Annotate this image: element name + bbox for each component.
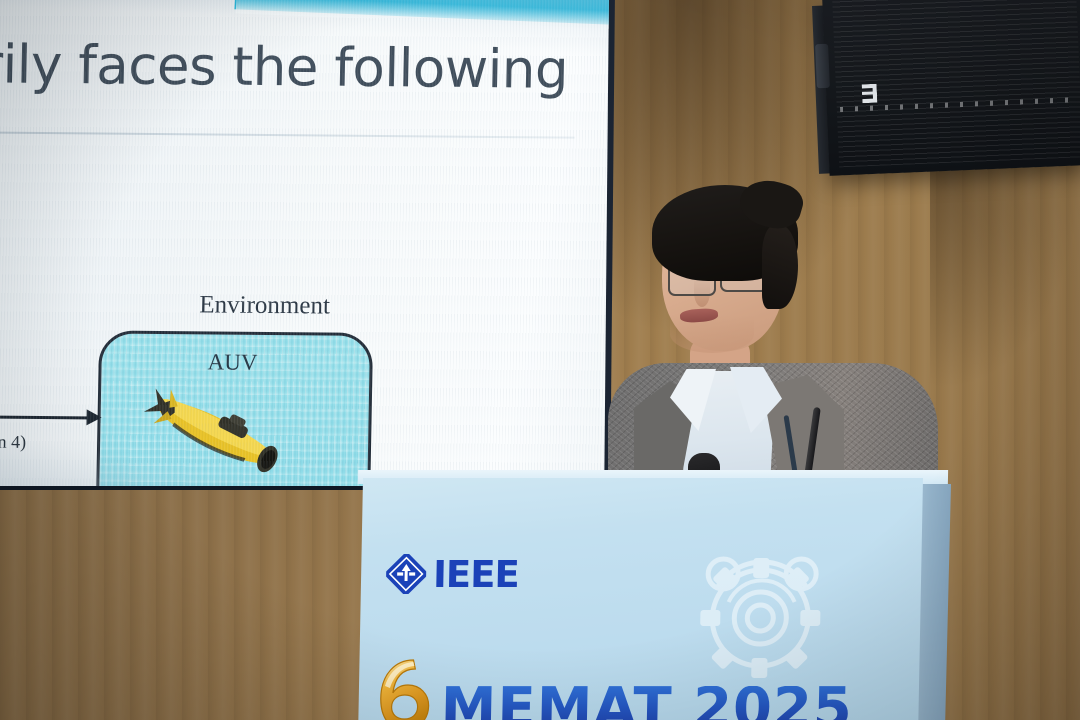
ieee-wordmark: IEEE — [433, 556, 519, 593]
speaker-person — [612, 185, 952, 485]
screen-sheen — [0, 0, 609, 486]
loudspeaker-grille — [832, 0, 1080, 167]
presentation-photo: arily faces the following Environment AU… — [0, 0, 1080, 720]
podium-front-panel: IEEE MEMAT 2025 — [358, 478, 923, 720]
event-name-wordmark: MEMAT 2025 — [440, 686, 853, 720]
loudspeaker-brand-logo-icon — [862, 84, 878, 104]
event-branding: MEMAT 2025 — [368, 654, 854, 720]
loudspeaker-cabinet — [822, 0, 1080, 176]
edition-number-6-graphic — [368, 654, 435, 720]
loudspeaker-handle — [815, 44, 830, 89]
hair-side — [762, 225, 798, 309]
projection-screen: arily faces the following Environment AU… — [0, 0, 609, 486]
ieee-logo: IEEE — [386, 554, 519, 594]
ieee-diamond-icon — [386, 554, 427, 594]
